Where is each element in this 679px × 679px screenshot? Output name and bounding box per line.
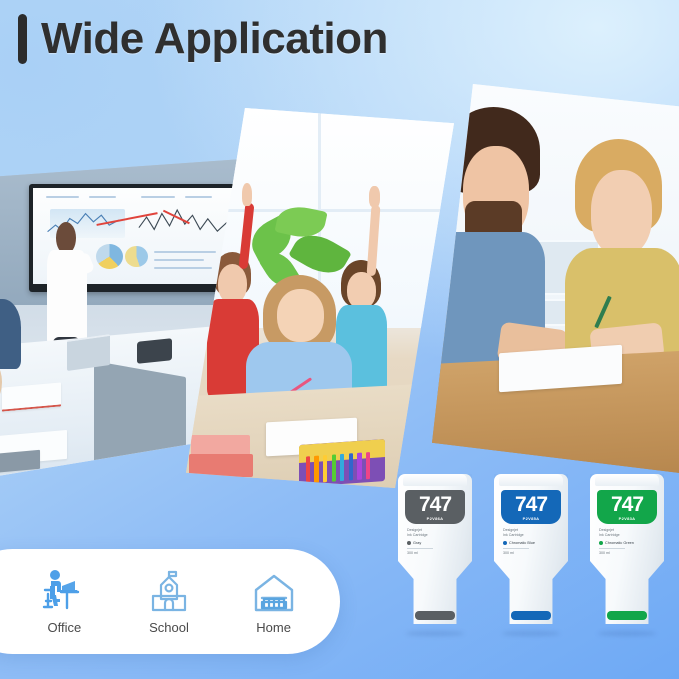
cartridge-chromatic-blue[interactable]: 747 P2V85A Designjet Ink Cartridge Chrom…	[494, 468, 568, 636]
photo-collage	[0, 78, 679, 488]
use-case-label: Home	[256, 620, 291, 635]
laptop	[67, 334, 110, 371]
page-title: Wide Application	[18, 14, 388, 64]
home-study-photo	[432, 84, 679, 474]
line-chart-right	[137, 203, 233, 242]
cartridge-outlet	[607, 611, 647, 620]
promo-banner: Wide Application	[0, 0, 679, 679]
cartridge-cap	[595, 474, 659, 486]
cartridge-chromatic-green[interactable]: 747 P2V83A Designjet Ink Cartridge Chrom…	[590, 468, 664, 636]
cartridge-info: Designjet Ink Cartridge Chromatic Blue 3…	[503, 528, 561, 555]
color-swatch-dot	[407, 541, 411, 545]
cartridge-label: 747 P2V85A	[501, 490, 561, 524]
use-case-label: Office	[47, 620, 81, 635]
cartridge-info: Designjet Ink Cartridge Gray 300 ml	[407, 528, 465, 555]
use-case-card: Office School	[0, 549, 340, 654]
table-cable-channel	[94, 361, 186, 478]
desk-phone	[137, 339, 172, 365]
school-building-icon	[144, 568, 194, 614]
cartridge-label: 747 P2V86A	[405, 490, 465, 524]
product-cartridges: 747 P2V86A Designjet Ink Cartridge Gray …	[398, 468, 673, 636]
home-house-sofa-icon	[249, 568, 299, 614]
title-accent-bar	[18, 14, 27, 64]
cartridge-info: Designjet Ink Cartridge Chromatic Green …	[599, 528, 657, 555]
cartridge-cap	[499, 474, 563, 486]
use-case-label: School	[149, 620, 189, 635]
use-case-row: Office School	[12, 549, 326, 654]
title-text: Wide Application	[41, 17, 388, 61]
cartridge-outlet	[511, 611, 551, 620]
use-case-office[interactable]: Office	[16, 568, 112, 635]
use-case-home[interactable]: Home	[226, 568, 322, 635]
office-desk-person-icon	[39, 568, 89, 614]
cartridge-cap	[403, 474, 467, 486]
use-case-school[interactable]: School	[121, 568, 217, 635]
pencil-case	[299, 439, 385, 487]
cartridge-outlet	[415, 611, 455, 620]
color-swatch-dot	[599, 541, 603, 545]
folder	[0, 450, 40, 473]
color-swatch-dot	[503, 541, 507, 545]
home-scene	[432, 84, 679, 474]
cartridge-gray[interactable]: 747 P2V86A Designjet Ink Cartridge Gray …	[398, 468, 472, 636]
seated-colleague-1	[0, 299, 21, 369]
cartridge-label: 747 P2V83A	[597, 490, 657, 524]
